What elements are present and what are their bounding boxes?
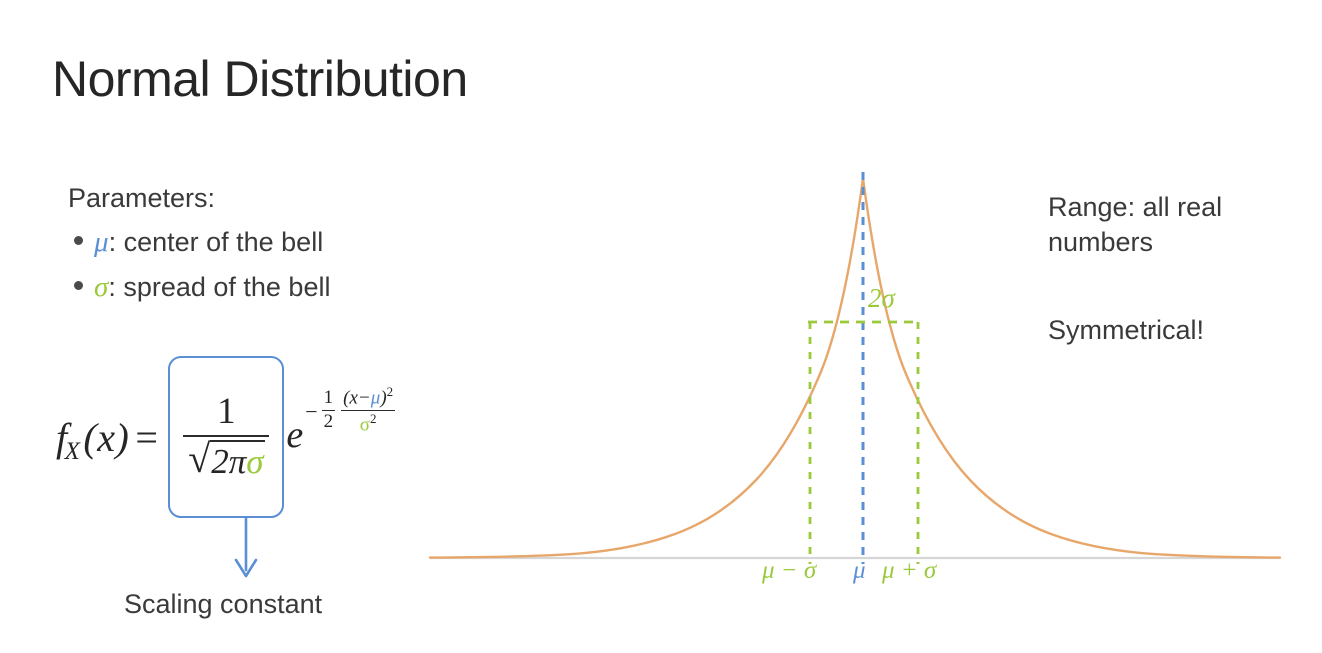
fraction-denominator: √ 2πσ [188, 437, 264, 481]
scaling-constant-box: 1 √ 2πσ [168, 356, 284, 518]
tick-label-mu: μ [853, 557, 866, 585]
list-item-label: : center of the bell [109, 222, 324, 264]
down-arrow-icon [228, 516, 268, 593]
formula-argument: (x) [83, 414, 129, 461]
formula-lhs: fX(x) = [56, 414, 168, 461]
exponent-denominator: σ2 [358, 412, 379, 436]
note-symmetrical: Symmetrical! [1048, 313, 1298, 348]
exponent-numerator: (x−μ)2 [341, 385, 395, 409]
exponent-minus: − [305, 399, 317, 425]
sigma-symbol: σ [246, 442, 263, 481]
formula-subscript-x: X [65, 438, 81, 466]
one-half-fraction: 1 2 [322, 388, 336, 433]
sigma-symbol: σ [94, 265, 108, 310]
tick-label-mu-plus-sigma: μ + σ [882, 557, 936, 585]
page-title: Normal Distribution [52, 52, 468, 107]
fraction-numerator: 1 [217, 393, 236, 435]
two-sigma-label: 2σ [868, 283, 895, 314]
radicand: 2πσ [210, 440, 264, 481]
sigma-symbol: σ [360, 415, 370, 436]
tick-label-mu-minus-sigma: μ − σ [762, 557, 816, 585]
fraction-bar [341, 410, 395, 412]
pdf-formula: fX(x) = 1 √ 2πσ e − 1 2 (x−μ)2 [56, 352, 396, 522]
list-item-label: : spread of the bell [108, 267, 330, 309]
scaling-fraction: 1 √ 2πσ [183, 393, 269, 481]
mu-symbol: μ [94, 220, 109, 265]
bullet-icon [74, 281, 83, 290]
notes-block: Range: all real numbers Symmetrical! [1048, 190, 1298, 348]
square-root-icon: √ 2πσ [188, 440, 264, 481]
euler-e: e [286, 413, 303, 457]
equals-sign: = [135, 414, 158, 461]
note-range: Range: all real numbers [1048, 190, 1298, 259]
exponent-expression: − 1 2 (x−μ)2 σ2 [305, 385, 398, 436]
scaling-constant-caption: Scaling constant [124, 589, 322, 620]
bullet-icon [74, 236, 83, 245]
exponential-term: e − 1 2 (x−μ)2 σ2 [286, 377, 396, 497]
squared-deviation-fraction: (x−μ)2 σ2 [341, 385, 395, 436]
mu-symbol: μ [371, 387, 381, 408]
